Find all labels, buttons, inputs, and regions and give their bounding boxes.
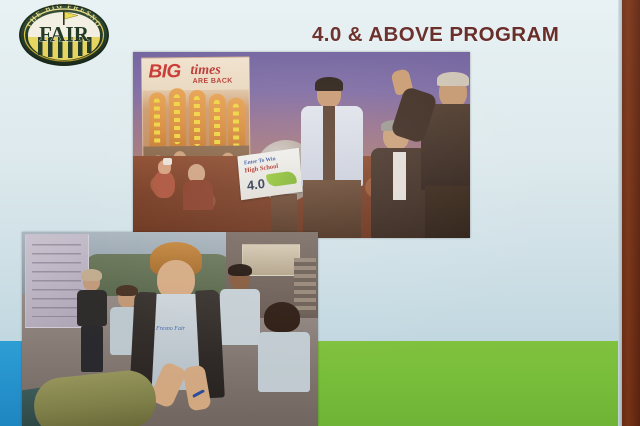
certificate-swoosh [266, 170, 297, 187]
stage-man-left [301, 80, 363, 238]
slide-photograph: FAIR THE BIG FRESNO 4.0 & ABOVE PROGRAM … [0, 0, 640, 426]
certificate-grade: 4.0 [246, 177, 265, 192]
camera-icon [163, 158, 172, 165]
banner-headline-big: BIG [148, 62, 180, 81]
student-shirt-print: Fresno Fair [156, 326, 185, 332]
student-background-left [77, 272, 107, 372]
awards-stage-photo: BIG times ARE BACK [133, 52, 470, 238]
banner-headline-times: times [190, 64, 220, 78]
presentation-slide: FAIR THE BIG FRESNO 4.0 & ABOVE PROGRAM … [0, 0, 622, 426]
crowd-person [183, 180, 213, 210]
four-point-zero-certificate: Enter To Win High School 4.0 [237, 148, 302, 200]
student-seated-right [258, 306, 310, 416]
fair-logo: FAIR THE BIG FRESNO [16, 1, 112, 67]
student-volunteers-photo: Fresno Fair [22, 232, 318, 426]
stage-man-right [421, 68, 470, 238]
logo-fair-wordmark: FAIR [39, 22, 90, 46]
slide-title: 4.0 & ABOVE PROGRAM [312, 23, 559, 47]
wall-frame-right [622, 0, 640, 426]
crowd-photographer [153, 170, 175, 198]
hotdog-illustration [143, 87, 250, 152]
banner-subline: ARE BACK [193, 78, 233, 85]
student-background-right [220, 268, 260, 378]
